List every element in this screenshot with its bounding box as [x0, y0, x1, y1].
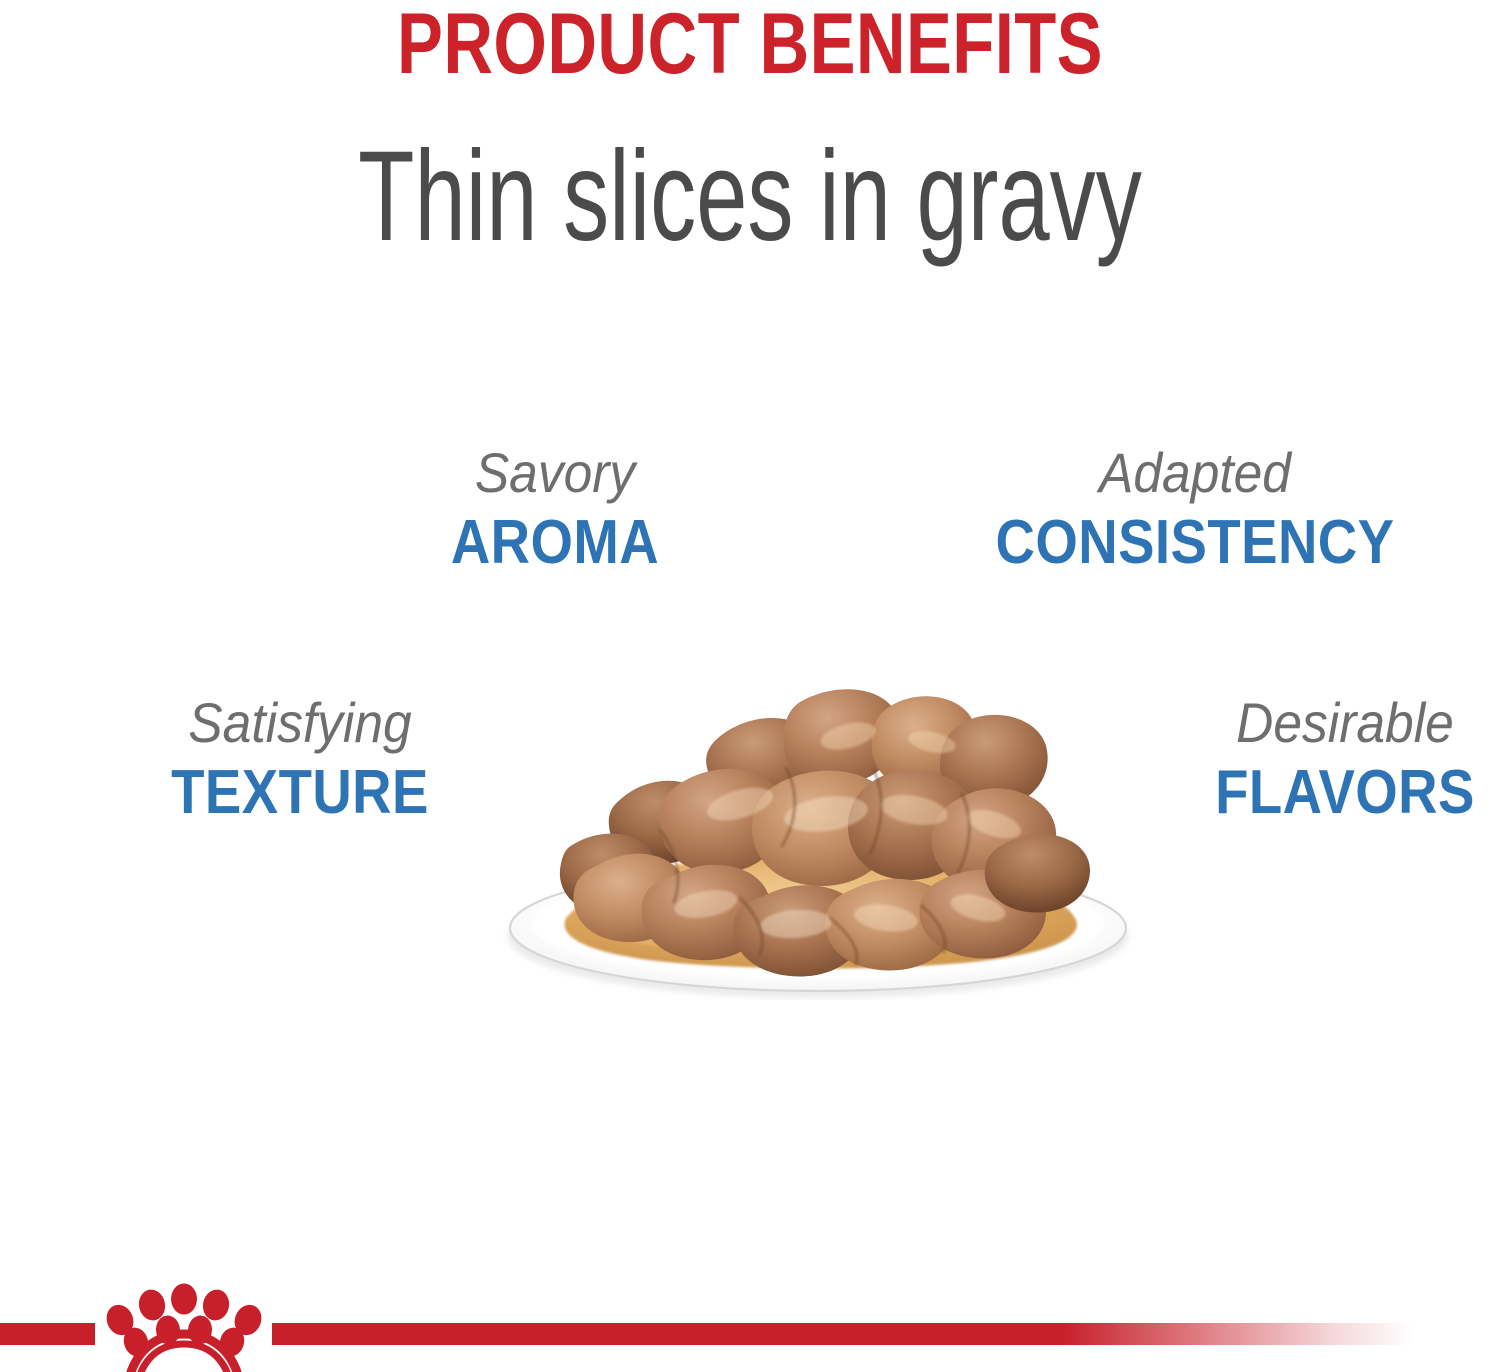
- benefit-qualifier: Desirable: [1161, 692, 1500, 754]
- benefit-keyword: AROMA: [379, 508, 731, 578]
- benefit-aroma: Savory AROMA: [355, 442, 755, 578]
- product-photo-image: [470, 618, 1160, 1000]
- footer: [0, 1280, 1500, 1370]
- benefit-flavors: Desirable FLAVORS: [1145, 692, 1500, 828]
- benefit-qualifier: Satisfying: [116, 692, 484, 754]
- benefit-consistency: Adapted CONSISTENCY: [895, 442, 1495, 578]
- footer-bar-right-segment: [272, 1323, 1432, 1345]
- page-subtitle: Thin slices in gravy: [210, 128, 1290, 266]
- royal-canin-crown-icon: [95, 1280, 273, 1372]
- benefit-texture: Satisfying TEXTURE: [100, 692, 500, 828]
- benefit-qualifier: Adapted: [919, 442, 1471, 504]
- benefit-keyword: FLAVORS: [1169, 758, 1500, 828]
- benefit-qualifier: Savory: [371, 442, 739, 504]
- benefit-keyword: CONSISTENCY: [931, 508, 1459, 578]
- footer-bar-left-segment: [0, 1323, 95, 1345]
- page-title: PRODUCT BENEFITS: [150, 0, 1350, 90]
- benefit-keyword: TEXTURE: [124, 758, 476, 828]
